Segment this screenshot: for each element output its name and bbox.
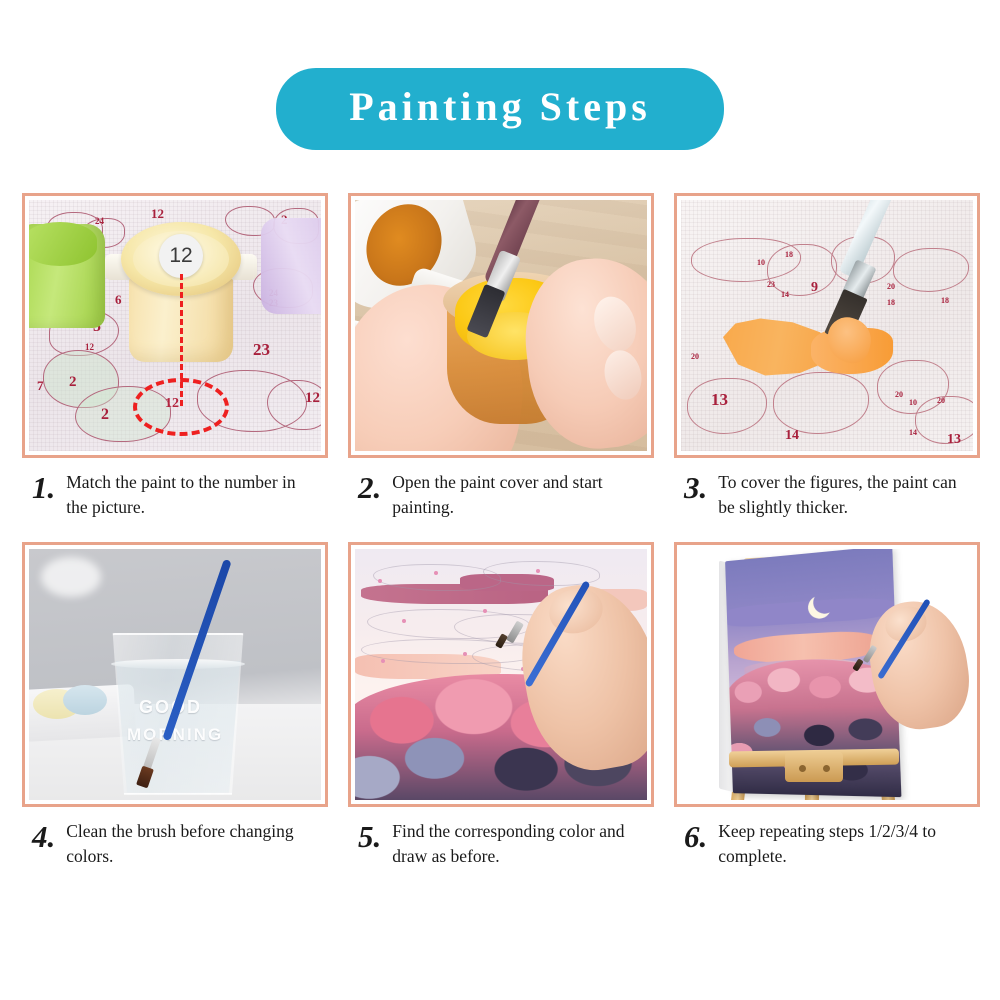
easel-tray-block	[785, 752, 843, 782]
sky-band	[727, 595, 895, 628]
step-3-photo-frame: 10 18 23 14 9 20 18 18 20 10 13 20 10 20…	[674, 193, 980, 458]
page-title: Painting Steps	[332, 82, 668, 132]
step-number-4: 4.	[32, 819, 55, 852]
canvas-number: 12	[305, 390, 320, 407]
target-canvas-number: 12	[165, 396, 179, 412]
canvas-number: 14	[781, 290, 789, 299]
canvas-number: 13	[711, 390, 728, 410]
outline-dot	[402, 619, 406, 623]
step-card-6: 6. Keep repeating steps 1/2/3/4 to compl…	[674, 542, 980, 869]
title-banner-wrapper: Painting Steps	[0, 68, 1000, 150]
photo-open-paint-pot-with-brush	[355, 200, 647, 451]
canvas-number: 7	[37, 378, 44, 394]
canvas-number: 23	[253, 340, 270, 360]
step-3-caption: 3. To cover the figures, the paint can b…	[674, 458, 980, 520]
canvas-number: 20	[691, 352, 699, 361]
step-number-1: 1.	[32, 470, 55, 503]
outline-dot	[463, 652, 467, 656]
background-blur-object	[41, 557, 101, 597]
photo-brush-applying-orange-paint: 10 18 23 14 9 20 18 18 20 10 13 20 10 20…	[681, 200, 973, 451]
canvas-number: 12	[151, 206, 164, 222]
step-2-caption: 2. Open the paint cover and start painti…	[348, 458, 654, 520]
canvas-number: 10	[757, 258, 765, 267]
step-6-caption: 6. Keep repeating steps 1/2/3/4 to compl…	[674, 807, 980, 869]
canvas-number: 6	[115, 292, 122, 308]
canvas-number: 24	[95, 216, 104, 226]
canvas-number: 14	[785, 428, 799, 444]
step-text-1: Match the paint to the number in the pic…	[66, 470, 318, 520]
photo-paint-pot-number-match: 12 24 2 7 6 5 12 24 23 2 7 2 23 12	[29, 200, 321, 451]
canvas-number: 20	[887, 282, 895, 291]
step-4-caption: 4. Clean the brush before changing color…	[22, 807, 328, 869]
step-number-6: 6.	[684, 819, 707, 852]
canvas-number: 9	[811, 280, 818, 296]
canvas-number: 12	[85, 342, 94, 352]
canvas-number: 20	[895, 390, 903, 399]
step-4-photo-frame: GOOD MORNING	[22, 542, 328, 807]
step-6-photo-frame	[674, 542, 980, 807]
step-text-5: Find the corresponding color and draw as…	[392, 819, 644, 869]
step-5-caption: 5. Find the corresponding color and draw…	[348, 807, 654, 869]
step-card-4: GOOD MORNING 4. Clean the brush before c…	[22, 542, 328, 869]
step-card-5: 5. Find the corresponding color and draw…	[348, 542, 654, 869]
easel-screw	[823, 765, 830, 772]
step-2-photo-frame	[348, 193, 654, 458]
outline-dot	[536, 569, 540, 573]
glass-text-line-2: MORNING	[127, 725, 223, 745]
step-text-4: Clean the brush before changing colors.	[66, 819, 318, 869]
painting-steps-page: Painting Steps 12	[0, 0, 1000, 1000]
canvas-number: 2	[101, 406, 109, 424]
decorative-stone	[63, 685, 107, 715]
step-card-3: 10 18 23 14 9 20 18 18 20 10 13 20 10 20…	[674, 193, 980, 520]
purple-paint-pot	[261, 218, 321, 314]
step-1-photo-frame: 12 24 2 7 6 5 12 24 23 2 7 2 23 12	[22, 193, 328, 458]
canvas-number: 23	[767, 280, 775, 289]
canvas-number: 10	[909, 398, 917, 407]
canvas-number: 18	[941, 296, 949, 305]
step-text-6: Keep repeating steps 1/2/3/4 to complete…	[718, 819, 970, 869]
canvas-number: 2	[69, 374, 77, 391]
photo-finished-painting-on-easel	[681, 549, 973, 800]
canvas-number: 13	[947, 432, 961, 448]
title-banner: Painting Steps	[276, 68, 724, 150]
canvas-number: 18	[887, 298, 895, 307]
step-text-3: To cover the figures, the paint can be s…	[718, 470, 970, 520]
step-1-caption: 1. Match the paint to the number in the …	[22, 458, 328, 520]
canvas-number: 18	[785, 250, 793, 259]
step-5-photo-frame	[348, 542, 654, 807]
photo-brush-in-water-glass: GOOD MORNING	[29, 549, 321, 800]
canvas-number: 20	[937, 396, 945, 405]
step-text-2: Open the paint cover and start painting.	[392, 470, 644, 520]
photo-hand-painting-cherry-blossom-canvas	[355, 549, 647, 800]
easel-screw	[799, 765, 806, 772]
step-card-2: 2. Open the paint cover and start painti…	[348, 193, 654, 520]
red-dashed-highlight-ellipse	[133, 378, 229, 436]
canvas-number: 14	[909, 428, 917, 437]
step-number-5: 5.	[358, 819, 381, 852]
water-surface-line	[111, 659, 245, 669]
green-paint-pot-lid	[29, 222, 97, 266]
step-card-1: 12 24 2 7 6 5 12 24 23 2 7 2 23 12	[22, 193, 328, 520]
step-number-3: 3.	[684, 470, 707, 503]
step-number-2: 2.	[358, 470, 381, 503]
paint-pot-number-label: 12	[159, 234, 203, 278]
steps-grid: 12 24 2 7 6 5 12 24 23 2 7 2 23 12	[22, 193, 980, 868]
